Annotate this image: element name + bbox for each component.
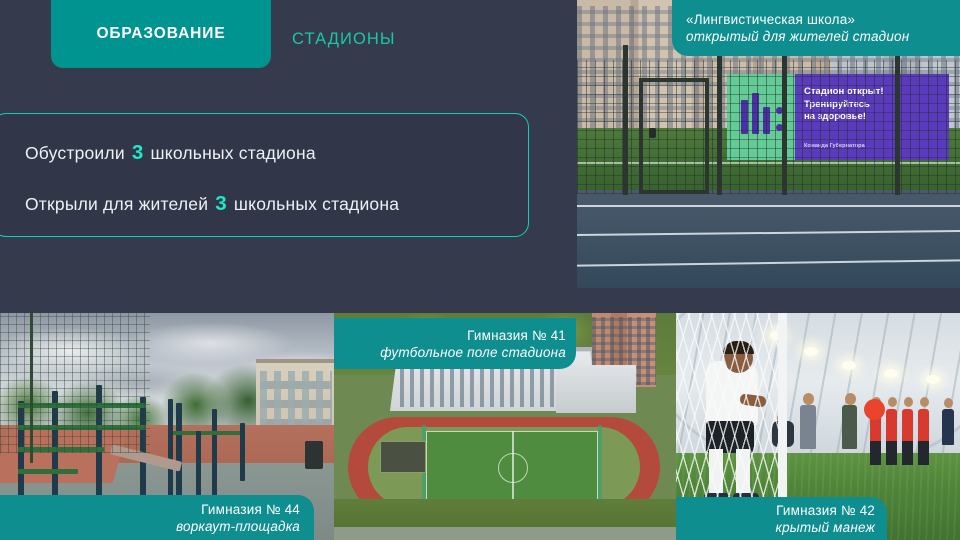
tab-stadiony[interactable]: СТАДИОНЫ xyxy=(292,30,396,49)
net-post xyxy=(30,313,33,463)
walkway xyxy=(334,527,676,540)
caption-title: Гимназия № 44 xyxy=(201,501,300,518)
ceiling-light xyxy=(804,347,818,356)
school-windows xyxy=(260,371,332,427)
stats-line-2-number: 3 xyxy=(213,192,229,215)
kid-player xyxy=(886,409,897,443)
ceiling-light xyxy=(926,375,940,384)
kid-player-head xyxy=(920,397,929,407)
field-center-circle xyxy=(498,453,528,483)
caption-title: Гимназия № 41 xyxy=(467,327,566,344)
stats-line-2-after: школьных стадиона xyxy=(234,194,399,214)
caption-subtitle: футбольное поле стадиона xyxy=(380,344,566,361)
fence-mesh xyxy=(577,60,960,194)
kid-player-head xyxy=(904,397,913,407)
tab-obrazovanie[interactable]: ОБРАЗОВАНИЕ xyxy=(51,0,271,68)
kid-player-legs xyxy=(902,441,913,465)
trash-bin xyxy=(305,441,323,469)
stats-line-1-number: 3 xyxy=(130,141,146,164)
stats-line-1: Обустроили 3 школьных стадиона xyxy=(25,141,316,165)
caption-subtitle: крытый манеж xyxy=(776,519,876,536)
stats-line-1-before: Обустроили xyxy=(25,143,125,163)
official-head xyxy=(944,398,953,408)
slide-root: ОБРАЗОВАНИЕ СТАДИОНЫ Обустроили 3 школьн… xyxy=(0,0,960,540)
tab-obrazovanie-label: ОБРАЗОВАНИЕ xyxy=(96,25,225,43)
caption-gymnasium-42: Гимназия № 42 крытый манеж xyxy=(676,497,887,540)
kid-player-legs xyxy=(918,441,929,465)
workout-bar xyxy=(212,409,217,509)
fence-post xyxy=(717,45,722,195)
ceiling-light xyxy=(884,369,898,378)
photographer-standing xyxy=(800,405,816,449)
stats-line-2-before: Открыли для жителей xyxy=(25,194,208,214)
cameraman-head xyxy=(845,393,856,405)
stats-line-1-after: школьных стадиона xyxy=(151,143,316,163)
protective-net xyxy=(0,313,150,453)
ceiling-light xyxy=(842,361,856,370)
track-lane-line xyxy=(577,205,960,207)
kid-player-legs xyxy=(886,441,897,465)
goal-post xyxy=(778,313,787,499)
fence-post xyxy=(623,45,628,195)
kid-player xyxy=(918,409,929,443)
caption-gymnasium-44: Гимназия № 44 воркаут-площадка xyxy=(0,495,314,540)
workout-post xyxy=(240,423,245,481)
stats-box: Обустроили 3 школьных стадиона Открыли д… xyxy=(0,113,529,237)
official-in-suit xyxy=(942,409,954,445)
workout-crossbar xyxy=(18,469,78,474)
fence-post xyxy=(782,45,787,195)
goal-net-right xyxy=(598,425,602,509)
cameraman xyxy=(842,405,857,449)
kid-player-legs xyxy=(870,441,881,465)
caption-subtitle: воркаут-площадка xyxy=(176,518,300,535)
caption-lingvisticheskaya: «Лингвистическая школа» открытый для жит… xyxy=(672,0,960,56)
photographer-head xyxy=(803,393,814,405)
caption-gymnasium-41: Гимназия № 41 футбольное поле стадиона xyxy=(334,318,576,369)
kid-player xyxy=(902,409,913,443)
secondary-court xyxy=(380,441,426,473)
goal-net xyxy=(676,313,782,513)
workout-post xyxy=(196,431,201,503)
kid-player-head xyxy=(888,397,897,407)
gate-latch xyxy=(649,128,656,138)
caption-title: Гимназия № 42 xyxy=(776,502,875,519)
stats-line-2: Открыли для жителей 3 школьных стадиона xyxy=(25,192,399,216)
school-building-wing xyxy=(556,365,636,413)
caption-title: «Лингвистическая школа» xyxy=(686,11,855,28)
workout-crossbar xyxy=(168,431,242,435)
fence-post xyxy=(895,45,900,195)
caption-subtitle: открытый для жителей стадион xyxy=(686,28,909,45)
football-ball xyxy=(864,399,885,420)
